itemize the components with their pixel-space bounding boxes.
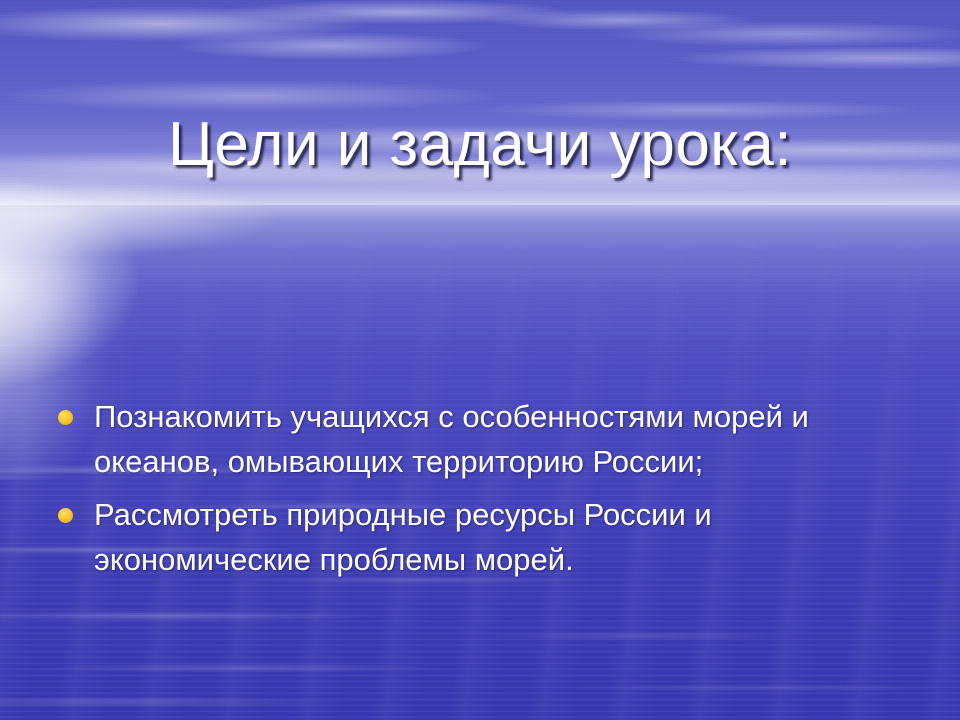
gold-dot-bullet-icon <box>58 410 73 425</box>
slide-content: Цели и задачи урока: Познакомить учащихс… <box>0 0 960 720</box>
slide-title: Цели и задачи урока: <box>0 108 960 182</box>
list-item-label: Познакомить учащихся с особенностями мор… <box>94 394 852 484</box>
gold-dot-bullet-icon <box>58 508 73 523</box>
objectives-list: Познакомить учащихся с особенностями мор… <box>52 394 852 590</box>
presentation-slide: Цели и задачи урока: Познакомить учащихс… <box>0 0 960 720</box>
list-item-label: Рассмотреть природные ресурсы России и э… <box>94 492 852 582</box>
list-item: Рассмотреть природные ресурсы России и э… <box>52 492 852 582</box>
list-item: Познакомить учащихся с особенностями мор… <box>52 394 852 484</box>
